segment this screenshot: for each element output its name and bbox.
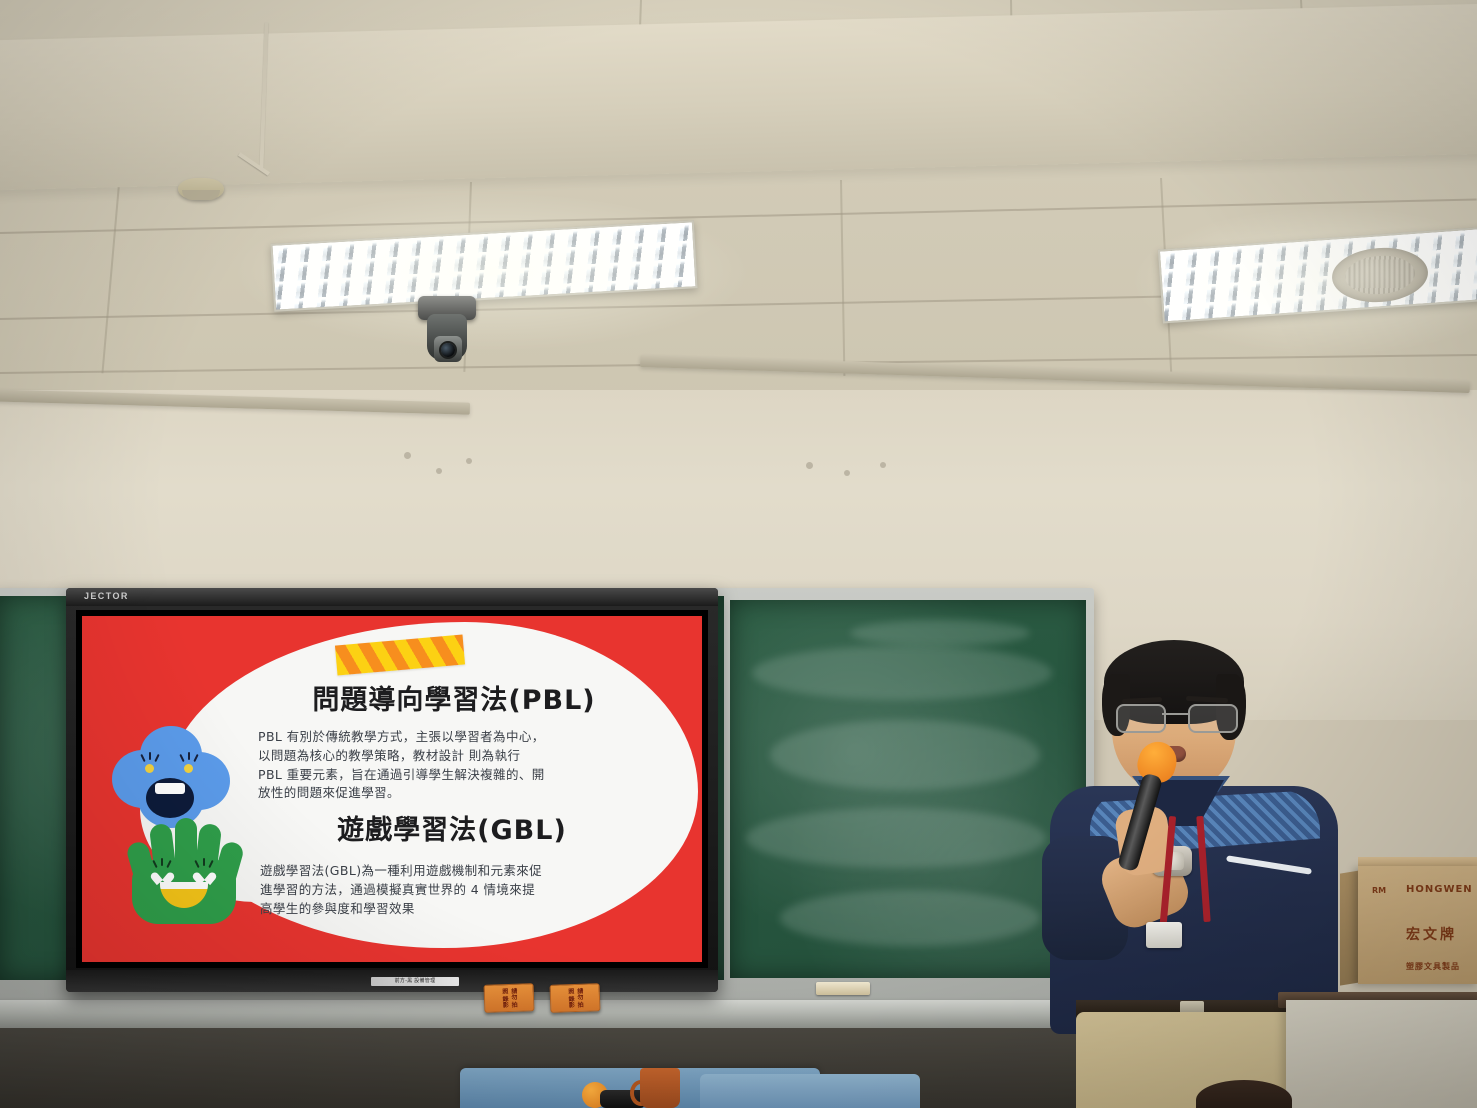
carton-brand-cjk: 宏文牌 [1406,924,1457,944]
wall-mark [436,468,442,474]
tray-sign-text: 請勿 拍照 錄影 [554,987,597,1008]
tray-sign-text: 請勿 拍照 錄影 [488,987,531,1008]
smoke-detector [178,178,224,200]
student-desk [700,1074,920,1108]
eyeglass-lens [1188,704,1238,733]
presentation-slide: 問題導向學習法(PBL) PBL 有別於傳統教學方式，主張以學習者為中心， 以問… [82,616,702,962]
chalk-smudge [746,808,1046,868]
slide-body-pbl-line: PBL 有別於傳統教學方式，主張以學習者為中心， [258,728,668,747]
eyeglass-bridge [1162,713,1188,715]
mascot-eye [145,764,154,773]
carton-product-line: 塑膠文具製品 [1406,961,1460,972]
tray-sign-plate[interactable]: 請勿 拍照 錄影 [550,983,601,1013]
carton-brand-latin: HONGWEN [1406,884,1473,895]
chalkboard-assembly: JECTOR [0,588,1104,1028]
mascot-heart-eye [197,868,212,881]
mascot-lash [161,858,163,866]
mascot-lash [149,752,151,760]
slide-body-pbl: PBL 有別於傳統教學方式，主張以學習者為中心， 以問題為核心的教學策略，教材設… [258,728,668,803]
podium[interactable] [1286,1000,1477,1108]
wall-mark [404,452,411,459]
chalk-smudge [850,620,1030,646]
mascot-heart-eye [155,868,170,881]
slide-body-gbl-line: 遊戲學習法(GBL)為一種利用遊戲機制和元素來促 [260,862,672,881]
blue-flower-mascot [112,726,230,828]
slide-heading-pbl: 問題導向學習法(PBL) [234,678,674,717]
camera-lens [434,336,462,362]
chalkboard-right-panel [730,600,1086,978]
slide-body-gbl-line: 進學習的方法，通過模擬真實世界的 4 情境來提 [260,881,672,900]
slide-body-gbl-line: 高學生的參與度和學習效果 [260,900,672,919]
display-brand-logo: JECTOR [84,591,129,601]
mascot-lash [188,752,190,760]
chalk-eraser [816,982,870,995]
carton-side [1340,870,1360,985]
ptz-camera [418,296,476,374]
chalk-smudge [752,646,1052,700]
id-badge [1146,922,1182,948]
display-screen[interactable]: 問題導向學習法(PBL) PBL 有別於傳統教學方式，主張以學習者為中心， 以問… [76,610,708,968]
wall-mark [806,462,813,469]
wall-mark [466,458,472,464]
slide-body-pbl-line: PBL 重要元素，旨在通過引導學生解決複雜的、開 [258,766,668,785]
eyeglasses [1114,704,1236,730]
display-asset-label-text: 前方-黑 設備管理 [371,977,459,986]
slide-body-pbl-line: 以問題為核心的教學策略，教材設計 則為執行 [258,747,668,766]
slide-body-pbl-line: 放性的問題來促進學習。 [258,784,668,803]
tray-sign-plate[interactable]: 請勿 拍照 錄影 [484,983,535,1013]
mascot-lash [203,858,205,866]
display-bottom-bezel: 前方-黑 設備管理 [66,970,718,992]
chalk-smudge [770,720,1040,790]
eyeglass-lens [1116,704,1166,733]
slide-body-gbl: 遊戲學習法(GBL)為一種利用遊戲機制和元素來促 進學習的方法，通過模擬真實世界… [260,862,672,918]
mascot-open-mouth [146,778,194,818]
chalk-smudge [780,890,1040,946]
wall-mark [880,462,886,468]
interactive-flat-panel[interactable]: JECTOR [66,588,718,992]
display-asset-label: 前方-黑 設備管理 [371,977,459,986]
chalk-tray [0,1000,1094,1028]
classroom-photo-scene: JECTOR [0,0,1477,1108]
slide-heading-gbl: 遊戲學習法(GBL) [262,808,642,847]
wall-mark [844,470,850,476]
carton-side-code: RM [1372,886,1386,895]
display-top-bezel: JECTOR [66,588,718,606]
mascot-eye [184,764,193,773]
cardboard-carton: HONGWEN 宏文牌 塑膠文具製品 RM [1358,866,1477,984]
green-hand-mascot [126,816,244,924]
coffee-mug [640,1068,680,1108]
